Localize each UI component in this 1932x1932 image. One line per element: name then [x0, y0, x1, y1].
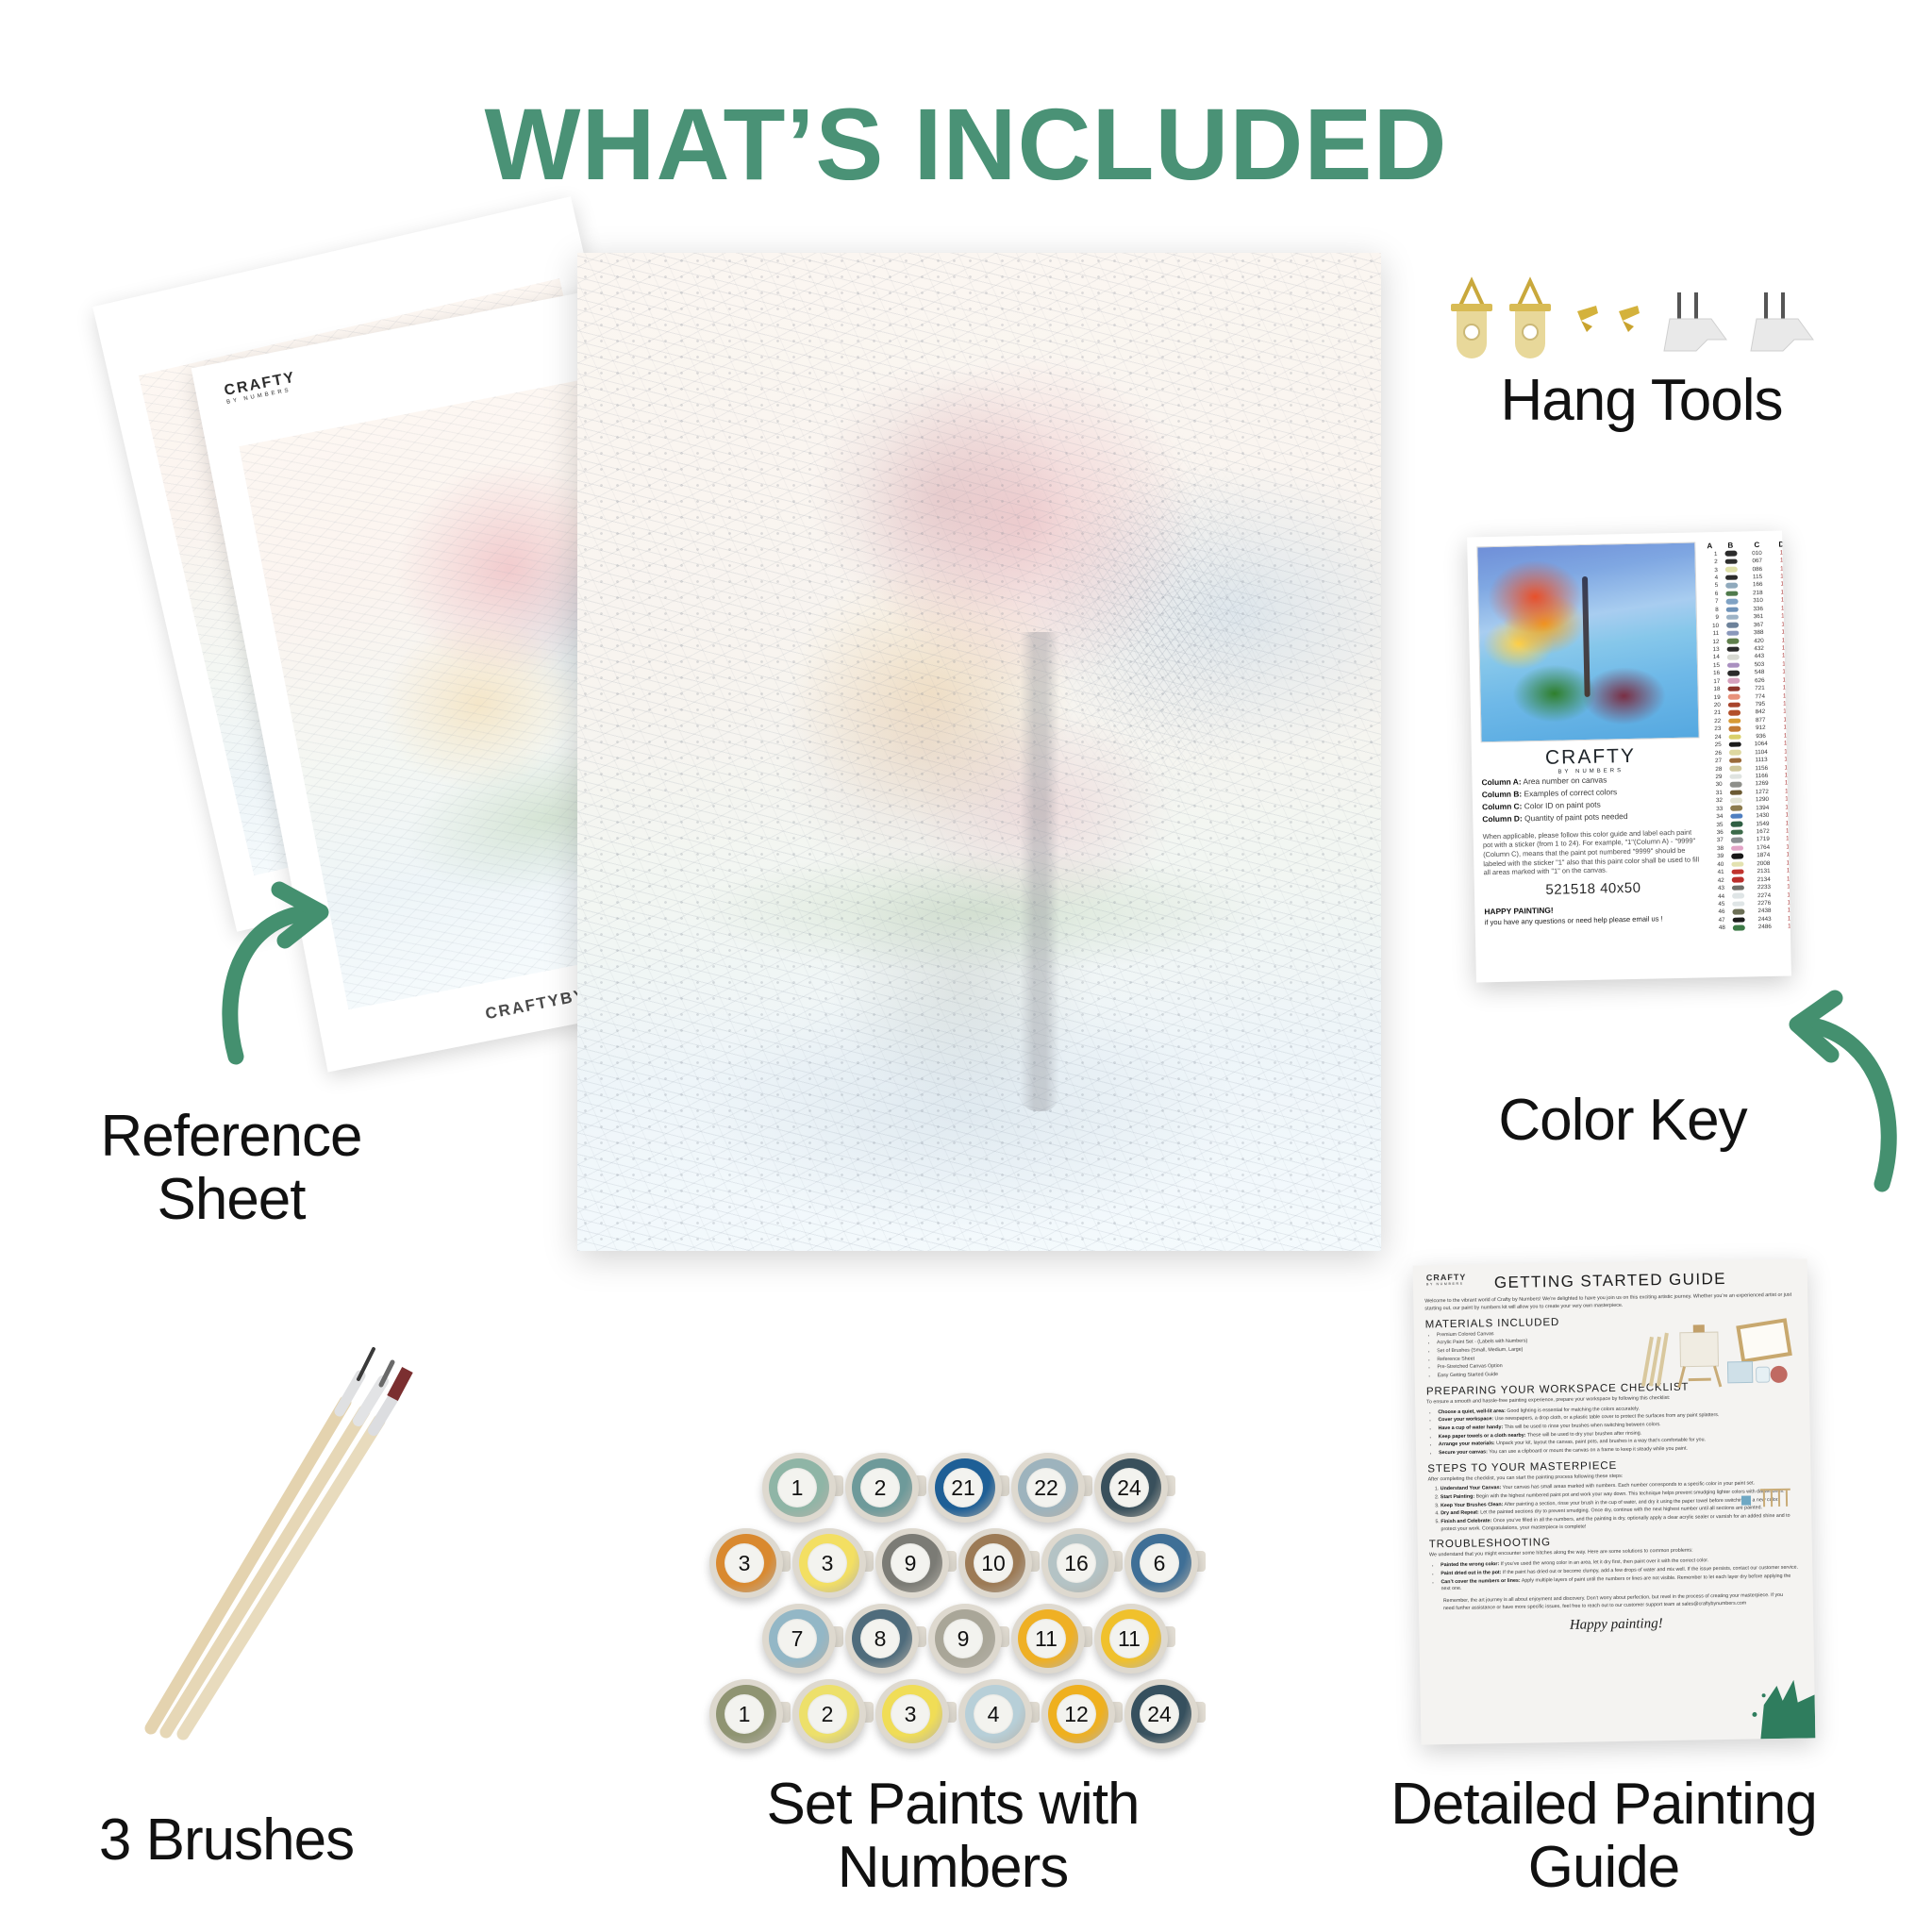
color-key-color-id: 1672 — [1747, 828, 1779, 836]
brushes-illustration — [1642, 1333, 1668, 1386]
d-ring-hanger-icon — [1509, 281, 1551, 358]
color-key-legend-key: Column D: — [1482, 813, 1523, 824]
color-key-quantity: 1 — [1779, 827, 1791, 834]
color-key-swatch — [1727, 869, 1748, 874]
color-key-area-number: 2 — [1700, 558, 1721, 565]
paint-pot: 10 — [955, 1526, 1036, 1600]
color-key-area-number: 41 — [1707, 869, 1727, 875]
guide-illustrations — [1635, 1318, 1796, 1391]
color-key-color-id: 842 — [1744, 708, 1776, 716]
color-key-area-number: 19 — [1703, 693, 1724, 700]
color-key-color-id: 2233 — [1748, 884, 1780, 891]
crafty-logo: CRAFTY BY NUMBERS — [223, 370, 298, 406]
hang-tools-group — [1443, 274, 1840, 358]
color-key-quantity: 1 — [1778, 780, 1791, 787]
paint-pot: 24 — [1121, 1677, 1202, 1751]
paint-pot-row: 12341224 — [706, 1677, 1204, 1751]
paint-pot: 3 — [872, 1677, 953, 1751]
color-key-area-number: 18 — [1702, 686, 1723, 692]
color-key-area-number: 12 — [1701, 638, 1722, 644]
color-key-area-number: 39 — [1706, 853, 1726, 859]
color-key-color-id: 774 — [1744, 692, 1776, 700]
color-key-swatch — [1725, 790, 1746, 795]
color-key-color-id: 1549 — [1746, 820, 1778, 827]
paint-pot-number: 1 — [724, 1694, 764, 1734]
color-key-row: 4824861 — [1707, 923, 1791, 932]
color-key-quantity: 1 — [1774, 621, 1791, 627]
color-key-instructions: When applicable, please follow this colo… — [1483, 827, 1703, 877]
color-key-area-number: 3 — [1700, 567, 1721, 574]
color-key-brand: CRAFTY BY NUMBERS — [1481, 743, 1701, 776]
color-key-swatch — [1724, 726, 1744, 732]
color-key-color-id: 086 — [1741, 565, 1774, 573]
color-key-area-number: 31 — [1705, 790, 1725, 796]
color-key-swatch — [1723, 646, 1743, 652]
color-key-color-id: 795 — [1744, 701, 1776, 708]
color-key-swatch — [1724, 702, 1744, 708]
color-key-color-id: 2438 — [1748, 908, 1780, 915]
paint-pot: 1 — [758, 1451, 840, 1524]
color-key-area-number: 37 — [1706, 837, 1726, 843]
paint-pot: 2 — [841, 1451, 923, 1524]
color-key-quantity: 1 — [1774, 628, 1791, 635]
color-key-quantity: 1 — [1780, 899, 1791, 906]
color-key-swatch — [1721, 583, 1741, 589]
color-key-color-id: 310 — [1742, 597, 1774, 605]
color-key-table-body: 1010120671308614115151661621817310183361… — [1699, 548, 1790, 932]
color-key-swatch — [1723, 686, 1743, 691]
color-key-quantity: 1 — [1781, 924, 1791, 930]
color-key-color-id: 1166 — [1745, 773, 1777, 780]
paint-pot: 11 — [1008, 1602, 1089, 1675]
color-key-quantity: 1 — [1774, 558, 1790, 564]
color-key-quantity: 1 — [1778, 811, 1791, 818]
guide-workspace-item-title: Secure your canvas: — [1439, 1449, 1488, 1456]
color-key-swatch — [1722, 639, 1742, 644]
color-key-quantity: 1 — [1774, 613, 1791, 620]
color-key-area-number: 1 — [1699, 551, 1720, 558]
paint-pot: 21 — [924, 1451, 1006, 1524]
color-key-swatch — [1722, 599, 1742, 605]
color-key-swatch — [1725, 797, 1746, 803]
guide-workspace-item-title: Have a cup of water handy: — [1439, 1424, 1504, 1431]
color-key-quantity: 1 — [1780, 883, 1791, 890]
color-key-color-id: 067 — [1741, 558, 1774, 565]
canvas-tree-foliage — [690, 312, 1284, 1151]
color-key-quantity: 1 — [1778, 820, 1790, 826]
paint-pot-row: 33910166 — [706, 1526, 1204, 1600]
color-key-quantity: 1 — [1775, 644, 1791, 651]
color-key-color-id: 1272 — [1746, 789, 1778, 796]
color-key-quantity: 1 — [1775, 685, 1790, 691]
paint-pot-number: 11 — [1109, 1619, 1149, 1658]
color-key-color-id: 503 — [1743, 661, 1775, 669]
color-key-quantity: 1 — [1780, 908, 1791, 914]
color-key-color-id: 1764 — [1747, 844, 1779, 852]
color-key-swatch — [1724, 718, 1744, 724]
label-reference-sheet-line1: Reference — [19, 1106, 443, 1169]
color-key-quantity: 1 — [1779, 852, 1791, 858]
wall-hook-icon — [1664, 292, 1726, 351]
color-key-quantity: 1 — [1780, 875, 1791, 882]
color-key-swatch — [1724, 734, 1745, 740]
paint-pot-number: 22 — [1026, 1468, 1066, 1507]
color-key-color-id: 2486 — [1749, 924, 1781, 931]
color-key-legend-key: Column A: — [1481, 776, 1521, 787]
color-key-swatch — [1723, 678, 1743, 684]
color-key-area-number: 15 — [1702, 662, 1723, 669]
color-key-swatch — [1726, 853, 1747, 858]
color-key-color-id: 115 — [1741, 574, 1774, 581]
paint-pot-number: 24 — [1140, 1694, 1179, 1734]
color-key-swatch — [1721, 567, 1741, 573]
color-key-swatch — [1722, 607, 1742, 612]
color-key-quantity: 1 — [1780, 868, 1791, 874]
color-key-area-number: 44 — [1707, 892, 1727, 899]
color-key-quantity: 1 — [1776, 708, 1791, 715]
paintbrush-icon — [151, 1349, 374, 1728]
guide-step-item-title: Dry and Repeat: — [1441, 1510, 1479, 1517]
color-key-swatch — [1728, 917, 1749, 923]
paint-pot: 3 — [789, 1526, 870, 1600]
paint-pot: 4 — [955, 1677, 1036, 1751]
color-key-color-id: 388 — [1742, 629, 1774, 637]
paint-pot: 8 — [841, 1602, 923, 1675]
guide-step-item-title: Keep Your Brushes Clean: — [1441, 1502, 1503, 1508]
color-key-swatch — [1725, 822, 1746, 827]
paint-pot: 9 — [924, 1602, 1006, 1675]
color-key-legend-key: Column C: — [1482, 801, 1523, 811]
color-key-color-id: 443 — [1743, 653, 1775, 660]
color-key-swatch — [1723, 655, 1743, 660]
color-key-area-number: 42 — [1707, 877, 1727, 884]
color-key-area-number: 36 — [1706, 829, 1726, 836]
color-key-area-number: 33 — [1705, 806, 1725, 812]
color-key-swatch — [1723, 670, 1743, 675]
color-key-area-number: 9 — [1701, 614, 1722, 621]
col-header-a: A — [1699, 541, 1720, 550]
color-key-quantity: 1 — [1777, 764, 1791, 771]
color-key-color-id: 166 — [1741, 581, 1774, 589]
guide-table-illustration — [1740, 1482, 1796, 1509]
color-key-product-code: 521518 40x50 — [1484, 878, 1703, 899]
paint-pot-row: 12212224 — [758, 1451, 1174, 1524]
color-key-swatch — [1722, 630, 1742, 636]
color-key-color-id: 721 — [1743, 685, 1775, 692]
color-key-area-number: 20 — [1703, 702, 1724, 708]
color-key-color-id: 912 — [1744, 724, 1776, 732]
guide-trouble-list: Painted the wrong color: If you’ve used … — [1441, 1557, 1802, 1593]
paint-pot-row: 7891111 — [758, 1602, 1174, 1675]
color-key-color-id: 432 — [1743, 645, 1775, 653]
color-key-swatch — [1724, 766, 1745, 772]
guide-heading: GETTING STARTED GUIDE — [1424, 1269, 1796, 1294]
color-key-color-id: 2131 — [1748, 868, 1780, 875]
color-key-swatch — [1720, 551, 1740, 557]
color-key-color-id: 548 — [1743, 669, 1775, 676]
color-key-color-id: 626 — [1743, 676, 1775, 684]
color-key-legend-desc: Quantity of paint pots needed — [1523, 811, 1628, 823]
paint-pot-number: 16 — [1057, 1543, 1096, 1583]
color-key-swatch — [1726, 861, 1747, 867]
color-key-quantity: 1 — [1775, 660, 1791, 667]
color-key-swatch — [1725, 782, 1746, 788]
color-key-swatch — [1725, 806, 1746, 811]
guide-trouble-item-title: Paint dried out in the pot: — [1441, 1570, 1501, 1576]
label-guide: Detailed Painting Guide — [1302, 1774, 1906, 1900]
color-key-area-number: 27 — [1704, 758, 1724, 764]
color-key-quantity: 1 — [1778, 796, 1791, 803]
color-key-area-number: 34 — [1705, 813, 1725, 820]
color-key-quantity: 1 — [1778, 804, 1791, 810]
paint-pot: 9 — [872, 1526, 953, 1600]
paint-pot-number: 10 — [974, 1543, 1013, 1583]
paint-pot-number: 3 — [808, 1543, 847, 1583]
paint-pot-number: 7 — [777, 1619, 817, 1658]
paint-pot: 7 — [758, 1602, 840, 1675]
color-key-color-id: 361 — [1742, 613, 1774, 621]
color-key-thumbnail-artwork — [1476, 541, 1699, 742]
wall-hook-icon — [1751, 292, 1813, 351]
color-key-area-number: 22 — [1703, 718, 1724, 724]
guide-step-item-title: Start Painting: — [1441, 1494, 1474, 1501]
color-key-area-number: 38 — [1706, 845, 1726, 852]
guide-signoff: Happy painting! — [1430, 1614, 1802, 1637]
color-key-color-id: 367 — [1742, 621, 1774, 628]
screw-icon — [1619, 306, 1640, 332]
guide-workspace-item-title: Choose a quiet, well-lit area: — [1438, 1408, 1506, 1415]
paint-tray-illustration — [1727, 1361, 1787, 1384]
color-key-area-number: 13 — [1702, 646, 1723, 653]
color-key-color-id: 1290 — [1746, 796, 1778, 804]
col-header-b: B — [1720, 541, 1740, 549]
d-ring-hanger-icon — [1451, 281, 1492, 358]
color-key-area-number: 25 — [1704, 741, 1724, 748]
color-key-color-id: 1156 — [1745, 764, 1777, 772]
color-key-color-id: 2008 — [1747, 859, 1779, 867]
label-paints-line1: Set Paints with — [651, 1774, 1255, 1837]
color-key-area-number: 28 — [1704, 765, 1724, 772]
color-key-column-legend: Column A: Area number on canvasColumn B:… — [1481, 773, 1701, 825]
guide-brand-sub: BY NUMBERS — [1426, 1282, 1467, 1287]
paint-pot-number: 2 — [860, 1468, 900, 1507]
color-key-swatch — [1726, 845, 1747, 851]
color-key-quantity: 1 — [1774, 581, 1790, 588]
color-key-area-number: 29 — [1704, 774, 1724, 780]
color-key-area-number: 24 — [1704, 734, 1724, 741]
paint-pot-number: 4 — [974, 1694, 1013, 1734]
color-key-legend-key: Column B: — [1482, 789, 1523, 799]
color-key-quantity: 1 — [1777, 741, 1791, 747]
color-key-area-number: 40 — [1706, 861, 1726, 868]
color-key-quantity: 1 — [1776, 716, 1791, 723]
paint-pot-number: 3 — [891, 1694, 930, 1734]
color-key-swatch — [1724, 694, 1744, 700]
getting-started-guide: CRAFTY BY NUMBERS GETTING STARTED GUIDE … — [1413, 1258, 1816, 1744]
color-key-color-id: 2443 — [1749, 916, 1781, 924]
paintbrush-icon — [166, 1362, 392, 1732]
color-key-area-number: 43 — [1707, 885, 1727, 891]
color-key-area-number: 30 — [1705, 781, 1725, 788]
paint-pot-number: 12 — [1057, 1694, 1096, 1734]
color-key-color-id: 336 — [1742, 606, 1774, 613]
label-reference-sheet-line2: Sheet — [19, 1169, 443, 1232]
color-key-area-number: 46 — [1707, 908, 1727, 915]
guide-workspace-item-text: These will be used to dry your brushes a… — [1525, 1430, 1641, 1438]
paint-pot-number: 3 — [724, 1543, 764, 1583]
color-key-area-number: 10 — [1701, 623, 1722, 629]
guide-step-item-title: Finish and Celebrate: — [1441, 1518, 1491, 1524]
color-key-color-id: 1394 — [1746, 804, 1778, 811]
paint-pot: 6 — [1121, 1526, 1202, 1600]
color-key-quantity: 1 — [1774, 589, 1790, 595]
paint-pot-number: 8 — [860, 1619, 900, 1658]
color-key-quantity: 1 — [1781, 915, 1791, 922]
reference-sheet-arrow-icon — [179, 854, 396, 1071]
color-key-color-id: 936 — [1745, 732, 1777, 740]
color-key-swatch — [1721, 591, 1741, 596]
guide-workspace-item-title: Keep paper towels or a cloth nearby: — [1439, 1432, 1526, 1440]
color-key-color-id: 1874 — [1747, 852, 1779, 859]
color-key-quantity: 1 — [1774, 637, 1791, 643]
paint-pot: 3 — [706, 1526, 787, 1600]
guide-brand: CRAFTY BY NUMBERS — [1426, 1273, 1467, 1287]
color-key-quantity: 1 — [1780, 891, 1791, 898]
color-key-swatch — [1724, 710, 1744, 716]
paint-pot: 11 — [1091, 1602, 1172, 1675]
color-key-area-number: 4 — [1700, 575, 1721, 581]
paint-pot-number: 11 — [1026, 1619, 1066, 1658]
color-key-color-id: 1064 — [1745, 741, 1777, 748]
paintbrush-icon — [183, 1370, 408, 1734]
color-key-area-number: 32 — [1705, 797, 1725, 804]
paint-pot-number: 9 — [891, 1543, 930, 1583]
color-key-area-number: 16 — [1702, 670, 1723, 676]
color-key-color-id: 1104 — [1745, 748, 1777, 756]
label-guide-line1: Detailed Painting — [1302, 1774, 1906, 1837]
color-key-quantity: 1 — [1775, 669, 1791, 675]
label-reference-sheet: Reference Sheet — [19, 1106, 443, 1232]
color-key-swatch — [1727, 909, 1748, 915]
paint-pot: 22 — [1008, 1451, 1089, 1524]
color-key-area-number: 48 — [1707, 924, 1728, 931]
guide-workspace-list: Choose a quiet, well-lit area: Good ligh… — [1438, 1403, 1799, 1457]
guide-closing: Remember, the art journey is all about e… — [1443, 1592, 1792, 1613]
canvas-bare-branches — [1027, 353, 1365, 891]
color-key-area-number: 23 — [1703, 725, 1724, 732]
color-key-swatch — [1726, 829, 1747, 835]
label-brushes: 3 Brushes — [19, 1809, 434, 1873]
color-key-swatch — [1724, 750, 1745, 756]
paint-pot-number: 6 — [1140, 1543, 1179, 1583]
color-key-area-number: 21 — [1703, 709, 1724, 716]
col-header-d: D — [1773, 540, 1790, 548]
color-key-quantity: 1 — [1776, 700, 1791, 707]
canvas-tree-trunk — [1020, 632, 1059, 1111]
color-key-quantity: 1 — [1775, 653, 1791, 659]
paint-pot: 1 — [706, 1677, 787, 1751]
color-key-quantity: 1 — [1774, 597, 1790, 604]
brushes-group — [113, 1321, 472, 1736]
color-key-swatch — [1724, 741, 1745, 747]
color-key-swatch — [1721, 575, 1741, 580]
color-key-swatch — [1722, 614, 1742, 620]
paint-pot: 2 — [789, 1677, 870, 1751]
color-key-color-id: 218 — [1741, 590, 1774, 597]
color-key-swatch — [1724, 758, 1745, 763]
color-key-area-number: 47 — [1707, 917, 1728, 924]
color-key-color-id: 1113 — [1745, 757, 1777, 764]
color-key-color-id: 2134 — [1748, 875, 1780, 883]
color-key-swatch — [1727, 877, 1748, 883]
guide-workspace-item-title: Arrange your materials: — [1439, 1441, 1495, 1447]
paint-pot-number: 21 — [943, 1468, 983, 1507]
paint-pot-number: 24 — [1109, 1468, 1149, 1507]
color-key-quantity: 1 — [1774, 605, 1791, 611]
paint-pot-number: 9 — [943, 1619, 983, 1658]
label-hang-tools: Hang Tools — [1396, 370, 1887, 433]
paint-pot: 24 — [1091, 1451, 1172, 1524]
color-key-color-id: 1430 — [1746, 812, 1778, 820]
color-key-swatch — [1725, 813, 1746, 819]
color-key-arrow-icon — [1740, 981, 1929, 1198]
frame-illustration — [1738, 1320, 1790, 1361]
color-key-card: CRAFTY BY NUMBERS Column A: Area number … — [1467, 531, 1791, 983]
color-key-area-number: 8 — [1701, 607, 1722, 613]
easel-illustration — [1678, 1324, 1721, 1388]
screw-icon — [1577, 306, 1598, 332]
color-key-quantity: 1 — [1776, 724, 1791, 731]
color-key-legend-desc: Area number on canvas — [1521, 775, 1607, 787]
color-key-swatch — [1726, 838, 1747, 843]
label-paints: Set Paints with Numbers — [651, 1774, 1255, 1900]
color-key-swatch — [1727, 901, 1748, 907]
guide-intro: Welcome to the vibrant world of Crafty b… — [1424, 1292, 1796, 1314]
color-key-quantity: 1 — [1777, 772, 1791, 778]
color-key-area-number: 35 — [1705, 821, 1725, 827]
color-key-color-id: 2274 — [1748, 891, 1780, 899]
color-key-quantity: 1 — [1774, 565, 1790, 572]
color-key-swatch — [1721, 558, 1741, 564]
color-key-area-number: 45 — [1707, 901, 1727, 908]
guide-trouble-item-title: Can’t cover the numbers or lines: — [1441, 1577, 1520, 1584]
color-key-color-id: 2276 — [1748, 900, 1780, 908]
color-key-legend-desc: Examples of correct colors — [1522, 787, 1617, 798]
color-key-color-id: 010 — [1740, 549, 1773, 557]
color-key-quantity: 1 — [1779, 843, 1791, 850]
color-key-area-number: 26 — [1704, 750, 1724, 757]
color-key-color-id: 1269 — [1746, 780, 1778, 788]
paint-pot: 16 — [1038, 1526, 1119, 1600]
color-key-area-number: 5 — [1700, 582, 1721, 589]
color-key-swatch — [1727, 885, 1748, 891]
color-key-legend-desc: Color ID on paint pots — [1522, 799, 1601, 810]
paint-pot: 12 — [1038, 1677, 1119, 1751]
color-key-quantity: 1 — [1777, 748, 1791, 755]
color-key-area-number: 11 — [1701, 630, 1722, 637]
guide-workspace-item-text: Good lighting is essential for matching … — [1506, 1406, 1640, 1413]
color-key-quantity: 1 — [1779, 836, 1791, 842]
color-key-swatch — [1723, 662, 1743, 668]
color-key-area-number: 7 — [1701, 598, 1722, 605]
color-key-swatch — [1724, 774, 1745, 779]
guide-paint-splash-icon — [1744, 1675, 1815, 1739]
color-key-swatch — [1728, 924, 1749, 930]
paint-pot-number: 1 — [777, 1468, 817, 1507]
color-key-swatch — [1722, 623, 1742, 628]
page-title: WHAT’S INCLUDED — [0, 85, 1932, 203]
color-key-quantity: 1 — [1777, 732, 1791, 739]
